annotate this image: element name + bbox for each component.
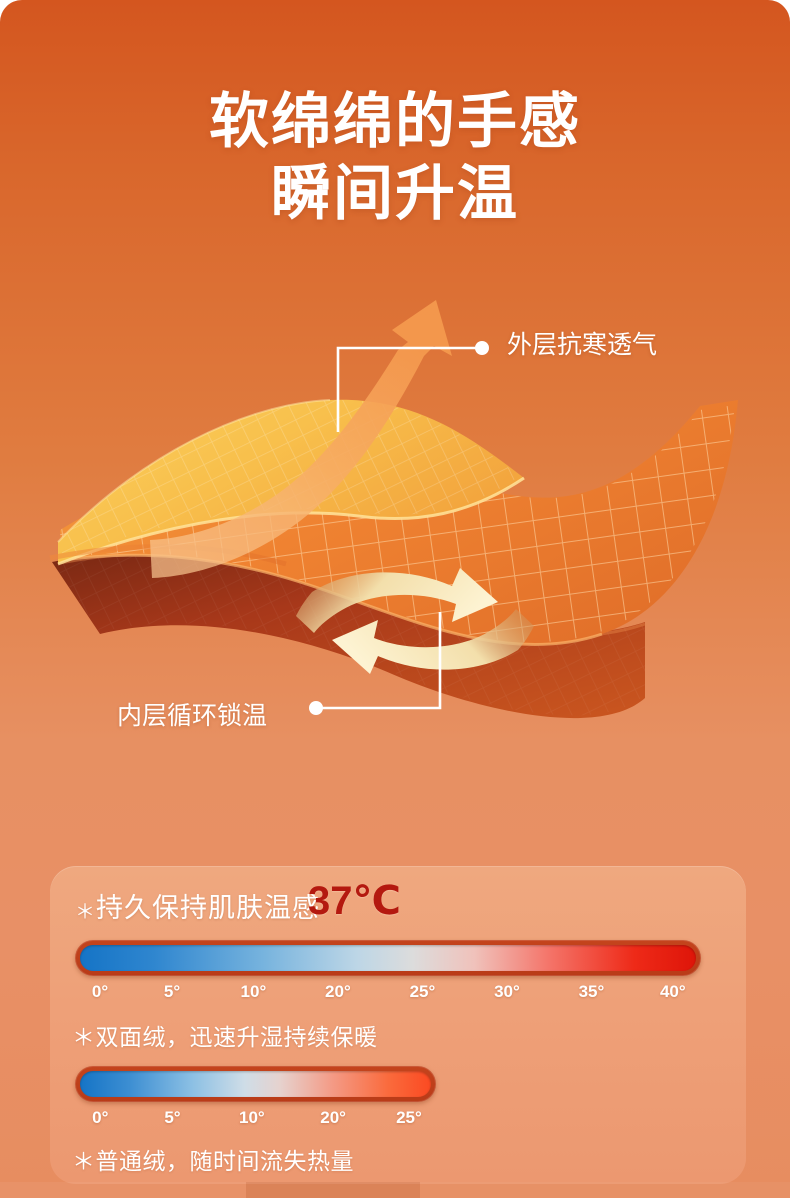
page-bottom-edge [0, 1182, 790, 1198]
temperature-scale-bar-double [75, 940, 701, 976]
scale-bar-gradient [80, 945, 696, 971]
scale-bar-gradient [80, 1071, 431, 1097]
tick-label: 10° [241, 982, 267, 1002]
scale-ticks-ordinary: 0° 5° 10° 20° 25° [75, 1108, 436, 1130]
scale-bar-frame [75, 940, 701, 976]
note-ordinary-fleece: ＊普通绒，随时间流失热量 [72, 1142, 354, 1176]
tick-label: 25° [396, 1108, 422, 1128]
temperature-value: 37℃ [308, 878, 401, 924]
tick-label: 35° [579, 982, 605, 1002]
note-double-fleece: ＊双面绒，迅速升湿持续保暖 [72, 1018, 378, 1052]
tick-label: 40° [660, 982, 686, 1002]
bottom-segment-right [420, 1182, 790, 1198]
page-title: 软绵绵的手感 瞬间升温 [0, 86, 790, 230]
temperature-info-card: ＊持久保持肌肤温感 37℃ 0° 5° 10° 20° 25° 30° 35° … [50, 866, 746, 1184]
bottom-segment-middle [246, 1182, 420, 1198]
tick-label: 0° [92, 1108, 108, 1128]
tick-label: 0° [92, 982, 108, 1002]
title-line-1: 软绵绵的手感 [209, 88, 581, 155]
temperature-scale-bar-ordinary [75, 1066, 436, 1102]
bullet-star-icon: ＊ [75, 901, 96, 923]
persist-temp-label: ＊持久保持肌肤温感 [75, 886, 320, 925]
tick-label: 5° [164, 982, 180, 1002]
tick-label: 30° [494, 982, 520, 1002]
scale-bar-frame [75, 1066, 436, 1102]
tick-label: 25° [410, 982, 436, 1002]
callout-label-outer: 外层抗寒透气 [507, 325, 657, 361]
callout-label-inner: 内层循环锁温 [117, 696, 267, 732]
tick-label: 20° [325, 982, 351, 1002]
product-detail-page: 软绵绵的手感 瞬间升温 [0, 0, 790, 1198]
title-line-2: 瞬间升温 [0, 158, 790, 230]
persist-temp-text: 持久保持肌肤温感 [96, 893, 320, 923]
bottom-segment-left [0, 1182, 246, 1198]
tick-label: 10° [239, 1108, 265, 1128]
tick-label: 5° [164, 1108, 180, 1128]
tick-label: 20° [320, 1108, 346, 1128]
scale-ticks-double: 0° 5° 10° 20° 25° 30° 35° 40° [75, 982, 701, 1004]
